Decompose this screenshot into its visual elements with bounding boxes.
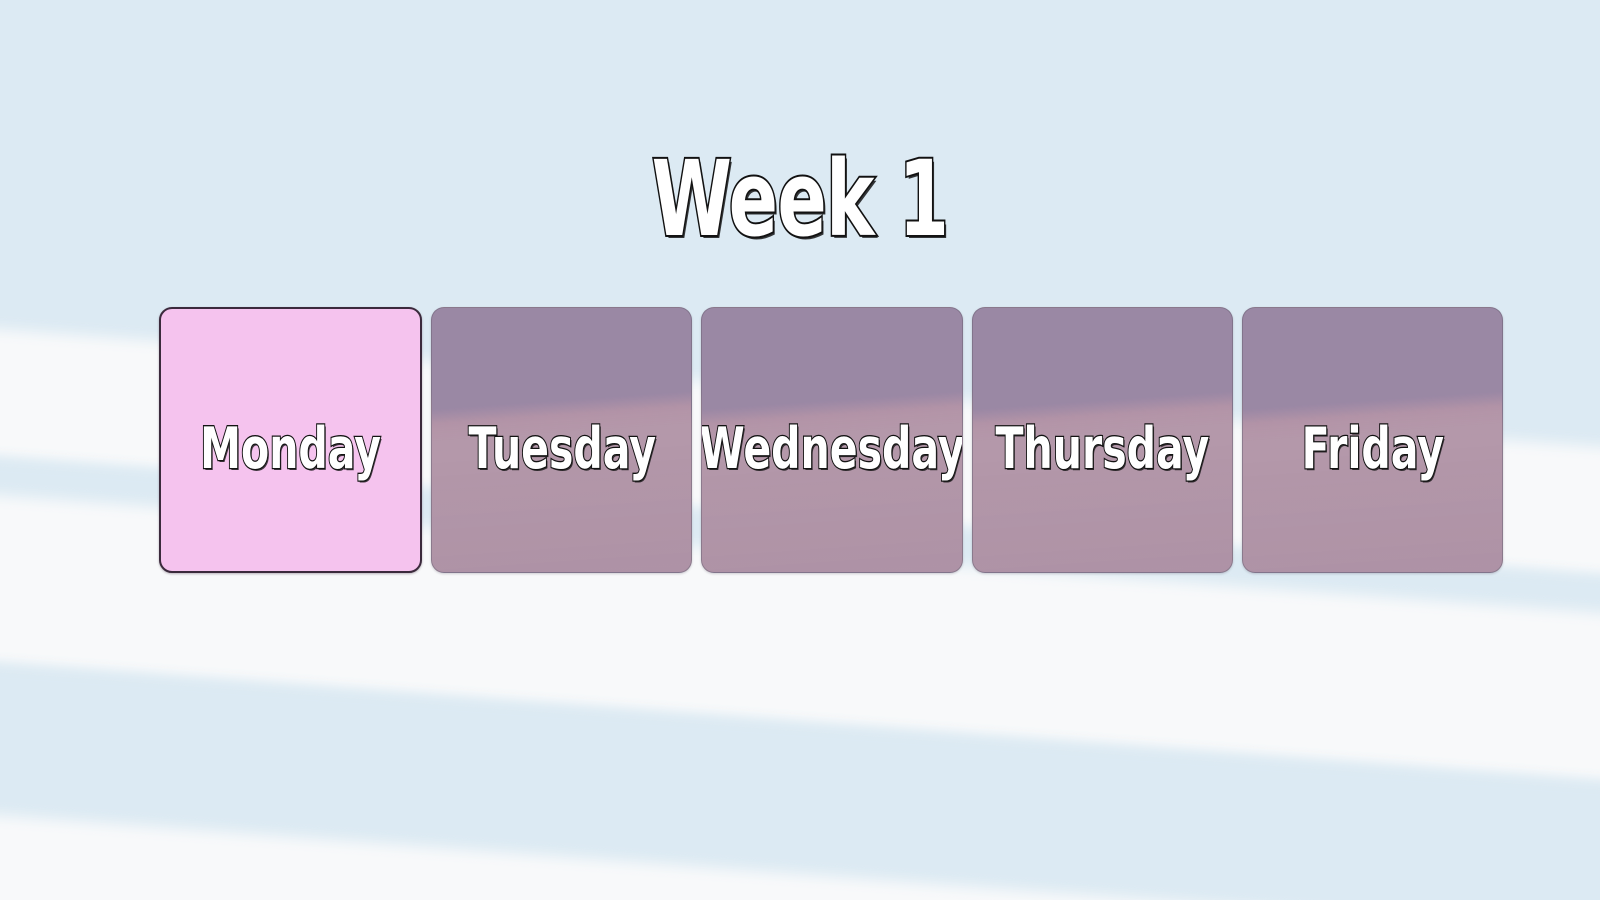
week-schedule-screen: Week 1 Monday Tuesday Wednesday Thursday…: [0, 0, 1600, 900]
day-card-label: Friday: [1301, 418, 1443, 480]
day-card-monday[interactable]: Monday: [159, 307, 422, 573]
day-card-label: Monday: [200, 418, 381, 480]
day-card-label: Thursday: [995, 418, 1209, 480]
day-card-label: Wednesday: [701, 418, 962, 480]
day-card-tuesday[interactable]: Tuesday: [431, 307, 692, 573]
day-card-label: Tuesday: [468, 418, 656, 480]
page-title: Week 1: [240, 143, 1360, 255]
day-card-friday[interactable]: Friday: [1242, 307, 1503, 573]
day-card-thursday[interactable]: Thursday: [972, 307, 1233, 573]
day-card-wednesday[interactable]: Wednesday: [701, 307, 962, 573]
week-day-card-row: Monday Tuesday Wednesday Thursday Friday: [159, 307, 1503, 573]
